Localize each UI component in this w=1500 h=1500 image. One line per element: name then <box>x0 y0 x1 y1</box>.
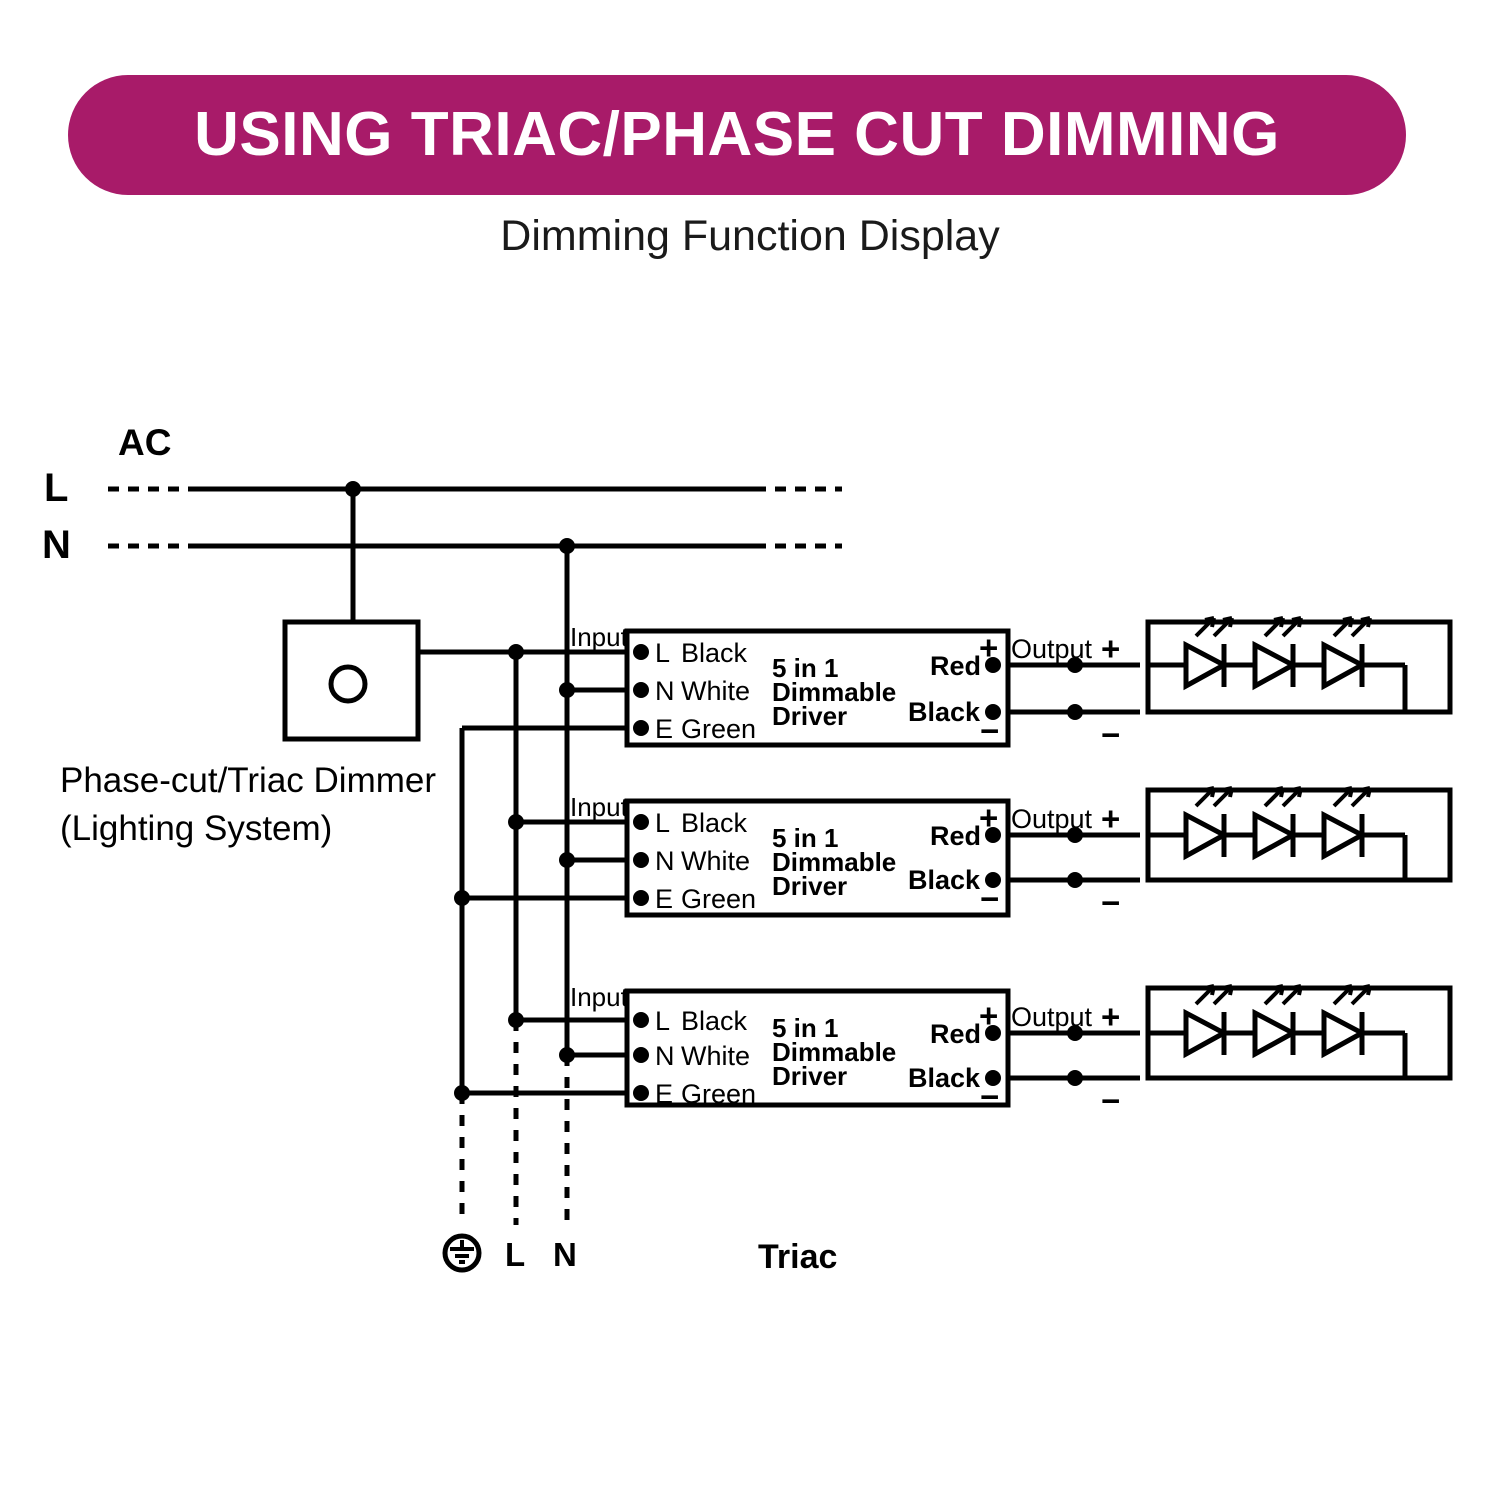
terminal-pin-2-l: L <box>655 810 670 837</box>
wiring-diagram <box>0 0 1500 1500</box>
terminal-pin-3-n: N <box>655 1043 675 1070</box>
terminal-wire-3-l: Black <box>681 1008 747 1035</box>
terminal-dot <box>633 644 649 660</box>
junction-dot <box>508 644 524 660</box>
driver-body-3-line3: Driver <box>772 1063 847 1089</box>
ac-label: AC <box>118 424 171 461</box>
terminal-dot <box>633 814 649 830</box>
junction-dot <box>559 1047 575 1063</box>
terminal-dot <box>633 1012 649 1028</box>
led-neg-sign-1: − <box>1101 718 1120 751</box>
footer-label: Triac <box>758 1240 837 1274</box>
out-neg-sign-3: − <box>980 1080 999 1113</box>
junction-dot <box>454 1085 470 1101</box>
dimmer-caption-line1: Phase-cut/Triac Dimmer <box>60 763 436 798</box>
terminal-dot <box>633 852 649 868</box>
junction-dot <box>1067 872 1083 888</box>
terminal-wire-2-n: White <box>681 848 750 875</box>
out-pos-sign-2: + <box>979 801 998 834</box>
led-symbol <box>1255 986 1301 1055</box>
out-pos-sign-3: + <box>979 999 998 1032</box>
led-symbol <box>1324 618 1370 687</box>
junction-dot <box>345 481 361 497</box>
junction-dot <box>508 1012 524 1028</box>
out-neg-sign-1: − <box>980 714 999 747</box>
terminal-dot <box>633 1047 649 1063</box>
input-label-3: Input <box>570 984 628 1010</box>
terminal-wire-1-e: Green <box>681 716 756 743</box>
terminal-pin-3-e: E <box>655 1081 673 1108</box>
terminal-dot <box>633 890 649 906</box>
terminal-pin-3-l: L <box>655 1008 670 1035</box>
out-neg-wire-1: Black <box>908 699 980 726</box>
led-symbol <box>1255 788 1301 857</box>
terminal-dot <box>633 682 649 698</box>
terminal-pin-2-e: E <box>655 886 673 913</box>
led-symbol <box>1255 618 1301 687</box>
mains-l-label: L <box>44 468 68 508</box>
bottom-bus-n-label: N <box>553 1238 577 1271</box>
diagram-page: USING TRIAC/PHASE CUT DIMMING Dimming Fu… <box>0 0 1500 1500</box>
driver-body-2-line3: Driver <box>772 873 847 899</box>
junction-dot <box>1067 704 1083 720</box>
out-pos-wire-1: Red <box>930 653 981 680</box>
out-pos-wire-3: Red <box>930 1021 981 1048</box>
output-label-1: Output <box>1011 636 1092 663</box>
terminal-wire-2-e: Green <box>681 886 756 913</box>
terminal-pin-2-n: N <box>655 848 675 875</box>
led-symbol <box>1186 986 1232 1055</box>
out-pos-wire-2: Red <box>930 823 981 850</box>
junction-dot <box>508 814 524 830</box>
terminal-pin-1-n: N <box>655 678 675 705</box>
junction-dot <box>559 852 575 868</box>
terminal-pin-1-l: L <box>655 640 670 667</box>
dimmer-knob-icon[interactable] <box>331 667 365 701</box>
led-symbol <box>1186 788 1232 857</box>
junction-dot <box>454 890 470 906</box>
junction-dot <box>1067 1070 1083 1086</box>
terminal-wire-1-n: White <box>681 678 750 705</box>
terminal-dot <box>633 1085 649 1101</box>
terminal-pin-1-e: E <box>655 716 673 743</box>
out-pos-sign-1: + <box>979 631 998 664</box>
out-neg-sign-2: − <box>980 882 999 915</box>
led-neg-sign-3: − <box>1101 1084 1120 1117</box>
led-pos-sign-3: + <box>1101 1000 1120 1033</box>
led-symbol <box>1324 986 1370 1055</box>
input-label-2: Input <box>570 794 628 820</box>
led-neg-sign-2: − <box>1101 886 1120 919</box>
junction-dot <box>559 538 575 554</box>
bottom-bus-l-label: L <box>505 1238 525 1271</box>
dimmer-caption-line2: (Lighting System) <box>60 811 332 846</box>
terminal-wire-2-l: Black <box>681 810 747 837</box>
out-neg-wire-2: Black <box>908 867 980 894</box>
driver-body-1-line3: Driver <box>772 703 847 729</box>
input-label-1: Input <box>570 624 628 650</box>
terminal-wire-1-l: Black <box>681 640 747 667</box>
junction-dot <box>559 682 575 698</box>
output-label-2: Output <box>1011 806 1092 833</box>
led-symbol <box>1186 618 1232 687</box>
out-neg-wire-3: Black <box>908 1065 980 1092</box>
terminal-wire-3-e: Green <box>681 1081 756 1108</box>
led-symbol <box>1324 788 1370 857</box>
led-pos-sign-2: + <box>1101 802 1120 835</box>
output-label-3: Output <box>1011 1004 1092 1031</box>
led-pos-sign-1: + <box>1101 632 1120 665</box>
terminal-dot <box>633 720 649 736</box>
mains-n-label: N <box>42 525 71 565</box>
terminal-wire-3-n: White <box>681 1043 750 1070</box>
